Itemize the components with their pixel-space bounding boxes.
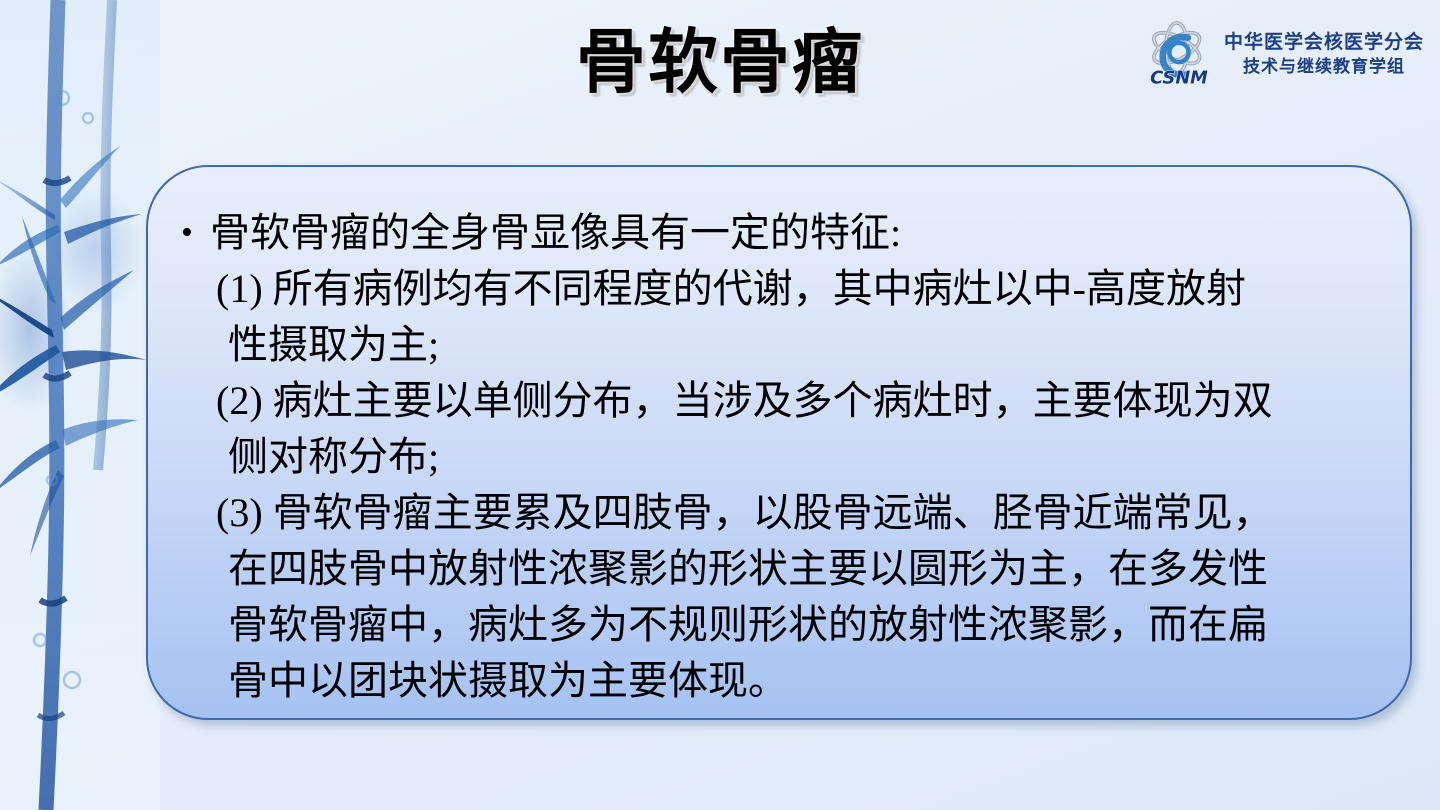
- organization-name-line1: 中华医学会核医学分会: [1224, 29, 1424, 55]
- bamboo-illustration-icon: [0, 0, 160, 810]
- numbered-point-1: (1) 所有病例均有不同程度的代谢，其中病灶以中-高度放射 性摄取为主;: [216, 261, 1380, 373]
- numbered-point-3: (3) 骨软骨瘤主要累及四肢骨，以股骨远端、胫骨近端常见， 在四肢骨中放射性浓聚…: [216, 485, 1380, 709]
- csnm-atom-logo-icon: CSNM: [1142, 18, 1216, 90]
- organization-name-line2: 技术与继续教育学组: [1243, 55, 1405, 79]
- organization-name: 中华医学会核医学分会 技术与继续教育学组: [1224, 29, 1424, 79]
- organization-logo: CSNM 中华医学会核医学分会 技术与继续教育学组: [1142, 18, 1424, 90]
- content-panel: • 骨软骨瘤的全身骨显像具有一定的特征: (1) 所有病例均有不同程度的代谢，其…: [146, 165, 1412, 720]
- point-3-line-2: 在四肢骨中放射性浓聚影的形状主要以圆形为主，在多发性: [216, 541, 1380, 597]
- content-body: • 骨软骨瘤的全身骨显像具有一定的特征: (1) 所有病例均有不同程度的代谢，其…: [148, 167, 1410, 709]
- bamboo-decoration-image: [0, 0, 160, 810]
- numbered-point-2: (2) 病灶主要以单侧分布，当涉及多个病灶时，主要体现为双 侧对称分布;: [216, 373, 1380, 485]
- slide: 骨软骨瘤 CSNM 中华医学会核医学分会 技术与继续教育学组: [0, 0, 1440, 810]
- point-3-line-1: (3) 骨软骨瘤主要累及四肢骨，以股骨远端、胫骨近端常见，: [216, 485, 1380, 541]
- point-3-line-3: 骨软骨瘤中，病灶多为不规则形状的放射性浓聚影，而在扁: [216, 597, 1380, 653]
- point-2-line-2: 侧对称分布;: [216, 429, 1380, 485]
- point-1-line-1: (1) 所有病例均有不同程度的代谢，其中病灶以中-高度放射: [216, 261, 1380, 317]
- lead-text: 骨软骨瘤的全身骨显像具有一定的特征:: [210, 205, 901, 261]
- bullet-item-lead: • 骨软骨瘤的全身骨显像具有一定的特征:: [164, 205, 1380, 261]
- point-3-line-4: 骨中以团块状摄取为主要体现。: [216, 653, 1380, 709]
- point-1-line-2: 性摄取为主;: [216, 317, 1380, 373]
- bullet-dot-icon: •: [164, 205, 210, 261]
- point-2-line-1: (2) 病灶主要以单侧分布，当涉及多个病灶时，主要体现为双: [216, 373, 1380, 429]
- csnm-wordmark: CSNM: [1150, 69, 1208, 89]
